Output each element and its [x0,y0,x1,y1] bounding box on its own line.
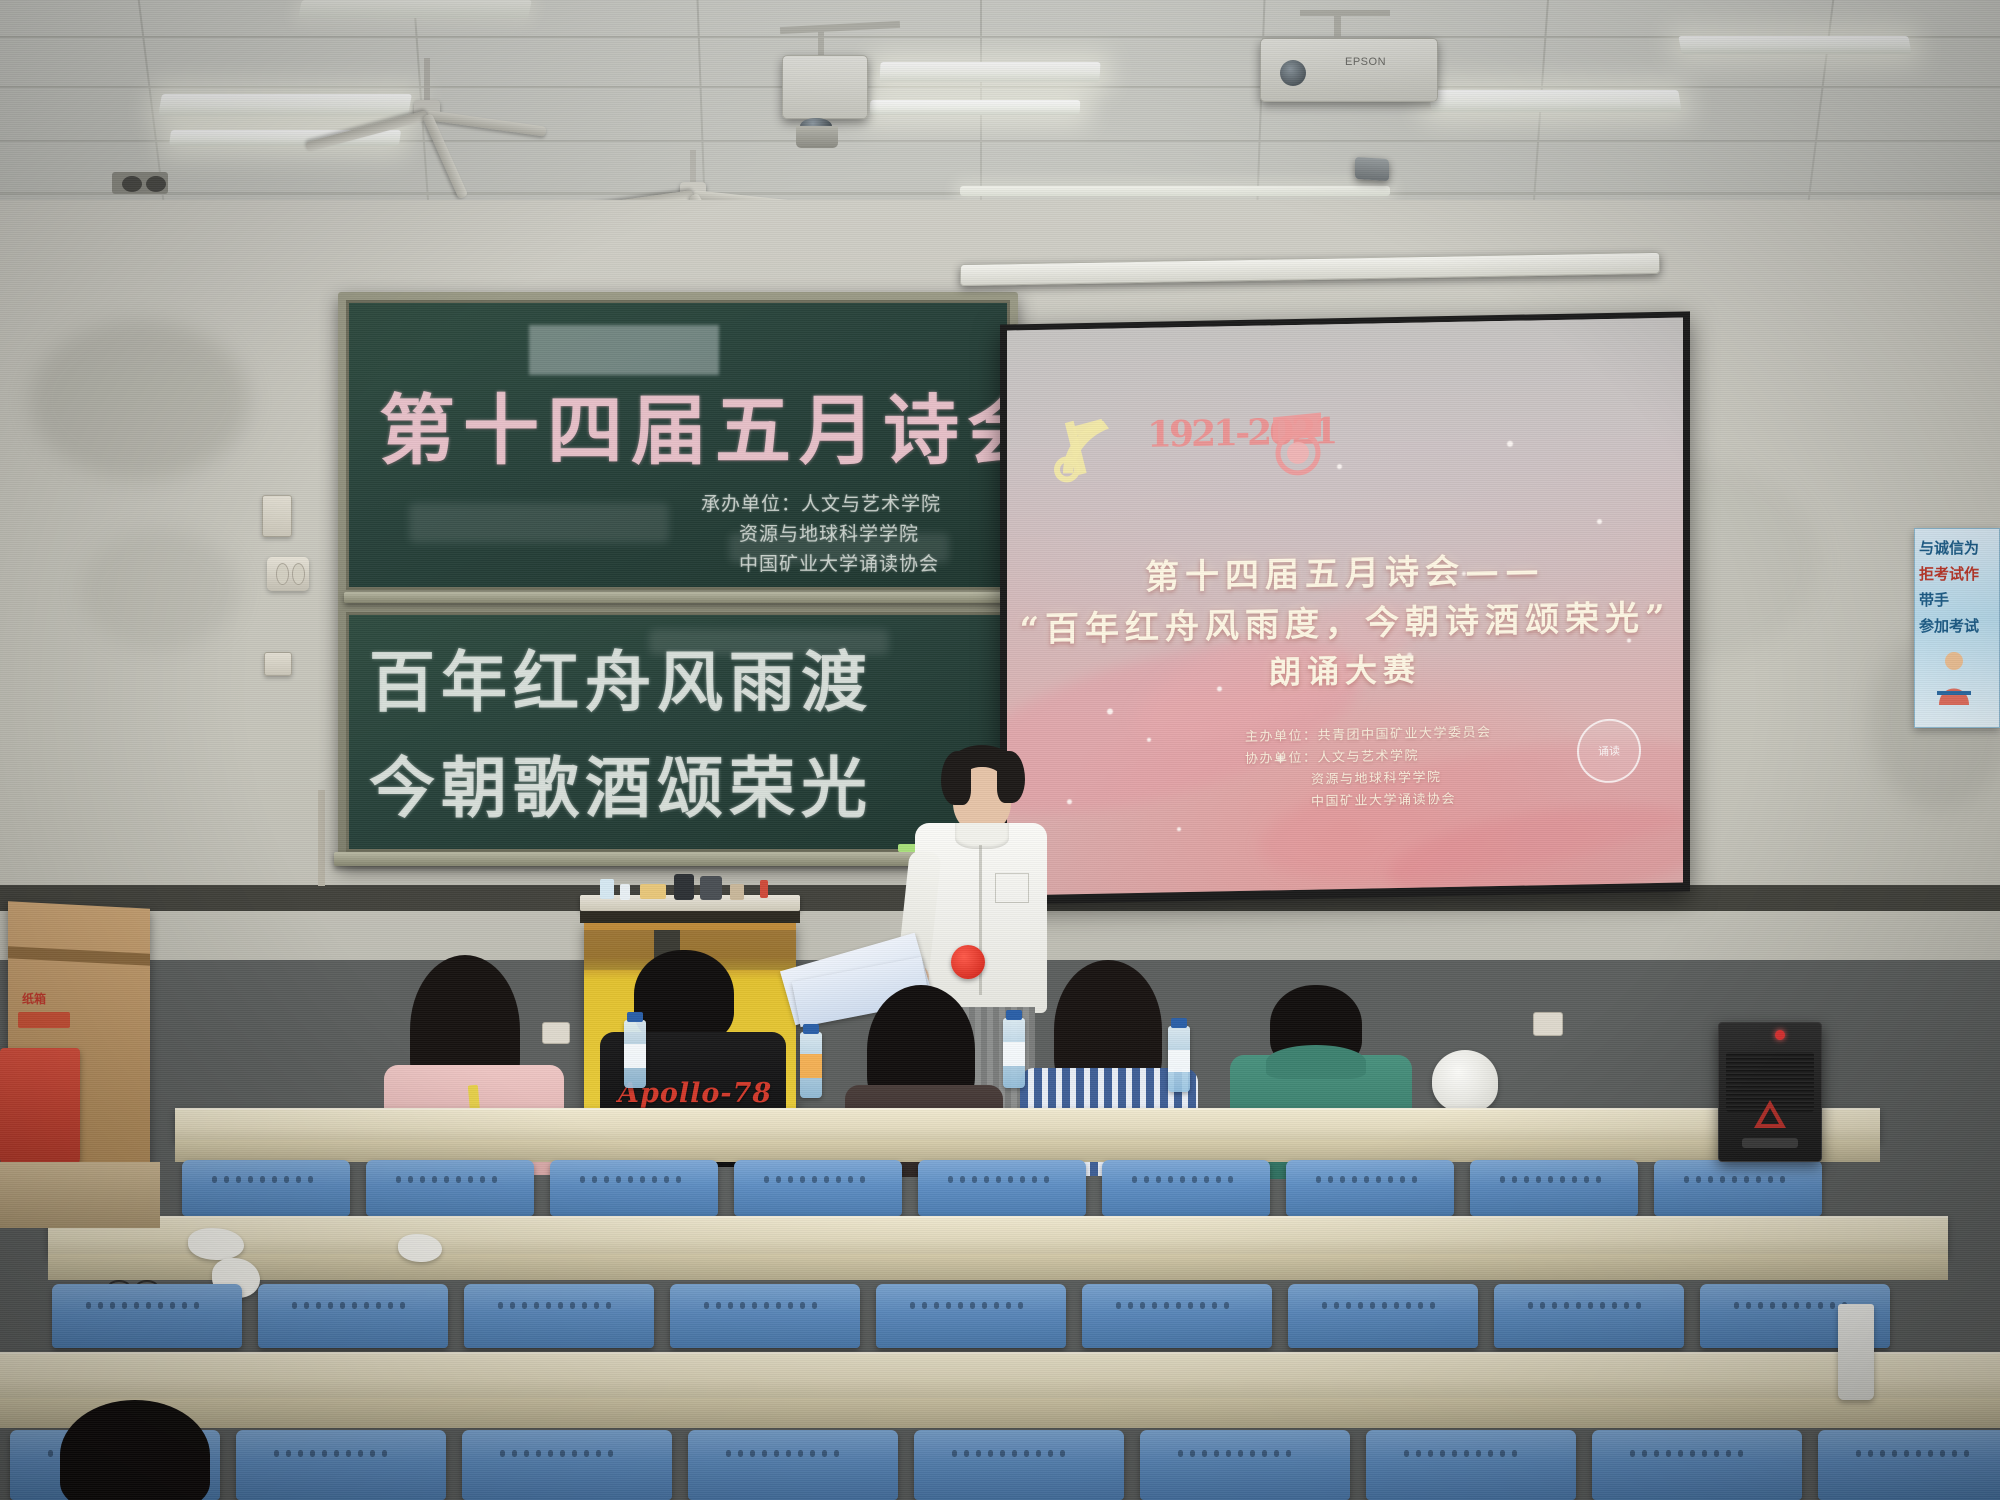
ceiling-light [1678,36,1911,54]
slide-credit-line: 协办单位：人文与艺术学院 [1245,745,1419,767]
poster-illustration [1931,647,1977,707]
marker-pen[interactable] [620,884,630,900]
red-flower-badge [951,945,985,979]
ceiling-light [870,100,1081,115]
wall-speaker [276,563,289,585]
blackboard-headline: 第十四届五月诗会 [379,369,1010,479]
box-label: 纸箱 [22,990,46,1007]
slide-credit-line: 资源与地球科学学院 [1311,766,1442,788]
eraser-block[interactable] [640,884,666,899]
blackboard-note-line: 承办单位：人文与艺术学院 [701,489,941,516]
blackboard-chalk-ledge [344,592,1012,603]
projection-screen-frame: 1921-2021 第十四届五月诗会—— “百年红舟风雨度，今朝诗酒颂荣光” 朗… [1000,311,1690,904]
desk-row-a-front [175,1140,1880,1162]
hair [997,751,1025,803]
power-outlet[interactable] [1533,1012,1563,1036]
phone-device[interactable] [700,876,722,900]
ceiling-speaker [1355,157,1389,181]
blackboard-couplet-line1: 百年红舟风雨渡 [369,629,873,725]
ceiling-light [960,186,1390,196]
phone-device[interactable] [674,874,694,900]
red-marker[interactable] [760,880,768,898]
poster-line: 参加考试 [1919,615,1979,636]
plastic-wrapper[interactable] [1432,1050,1498,1112]
power-led-icon [1775,1030,1785,1040]
exam-integrity-poster: 与诚信为 拒考试作 带手 参加考试 [1914,528,2000,728]
blackboard-note-line: 中国矿业大学诵读协会 [739,549,939,576]
blackboard-panel-top: 第十四届五月诗会 承办单位：人文与艺术学院 资源与地球科学学院 中国矿业大学诵读… [346,300,1010,590]
desk-row-c [0,1352,2000,1400]
classroom-scene: EPSON 第十四届五月诗会 承办单位：人文与艺术学院 资源与地球科学学院 中国… [0,0,2000,1500]
wall-switch-box[interactable] [262,495,292,537]
wall-speaker [292,563,305,585]
security-camera-icon [122,176,142,192]
projector-brand-label: EPSON [1345,56,1386,68]
projection-screen: 1921-2021 第十四届五月诗会—— “百年红舟风雨度，今朝诗酒颂荣光” 朗… [1007,318,1683,896]
red-plastic-bag[interactable] [0,1048,80,1168]
poster-line: 拒考试作 [1919,563,1979,584]
ceiling-light [1428,90,1681,112]
shirt-collar [955,823,1009,849]
marker-pen[interactable] [600,879,614,899]
youth-league-icon [1265,406,1331,477]
wall-outlet-box[interactable] [264,652,292,676]
blackboard-note-line: 资源与地球科学学院 [739,519,919,546]
wall-conduit [318,790,325,886]
hammer-sickle-icon [1047,406,1127,486]
desk-row-a [175,1108,1880,1142]
small-object[interactable] [730,884,744,900]
hair [941,751,971,805]
plastic-cup[interactable] [1838,1304,1874,1400]
ceiling-light [158,94,412,116]
security-camera-icon [146,176,166,192]
speaker-logo [1752,1096,1788,1132]
box-label-strip [18,1012,70,1028]
slide-credit-line: 中国矿业大学诵读协会 [1311,788,1456,810]
hair [634,950,734,1042]
hair [60,1400,210,1500]
slide-credit-line: 主办单位：共青团中国矿业大学委员会 [1245,721,1492,745]
hoodie-hood [1266,1045,1366,1079]
audience-person-6-foreground [50,1400,230,1500]
desk-row-c-front [0,1398,2000,1428]
poster-line: 与诚信为 [1919,537,1979,558]
blackboard-couplet-line2: 今朝歌酒颂荣光 [369,735,873,831]
poster-line: 带手 [1919,589,1949,610]
shirt-pocket [995,873,1029,903]
ceiling-light [298,0,532,18]
ceiling-light [879,62,1100,82]
speaker-handle[interactable] [1742,1138,1798,1148]
